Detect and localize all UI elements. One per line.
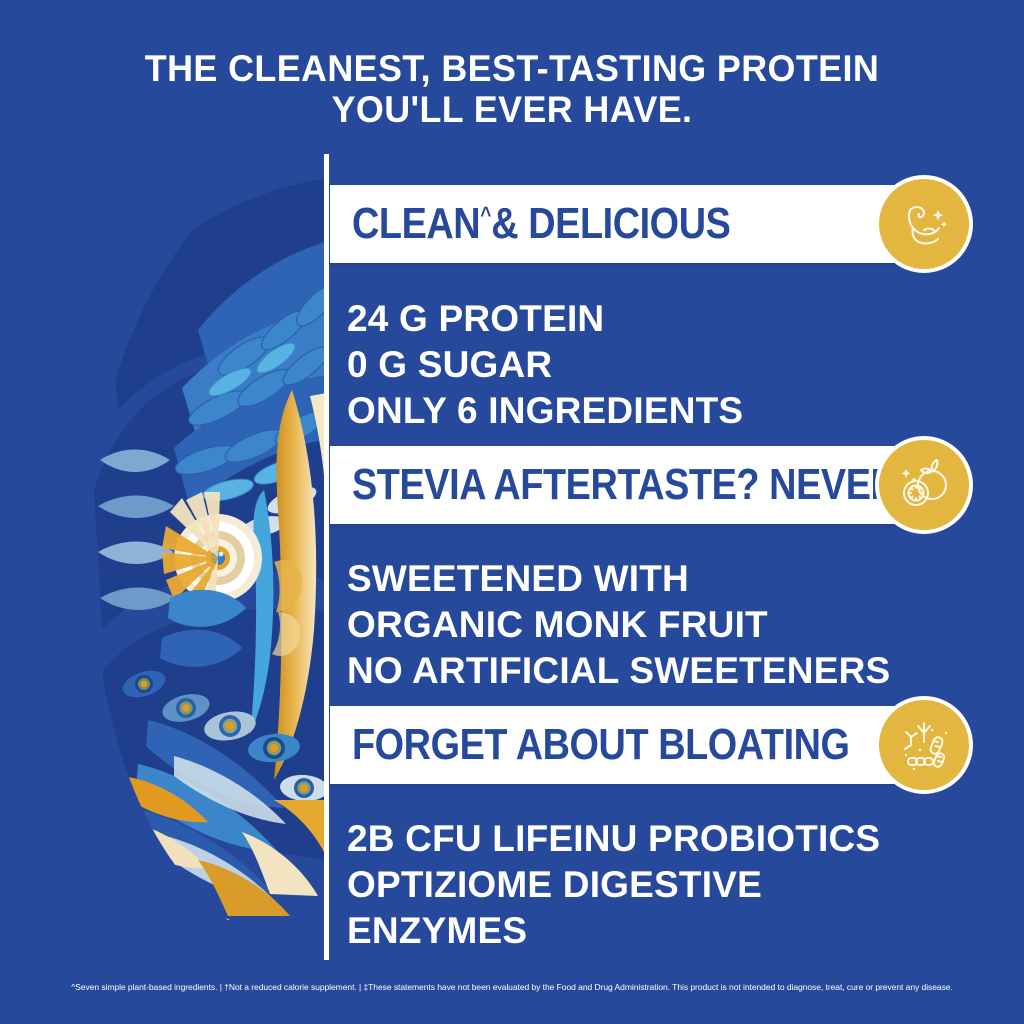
legal-disclaimer: ^Seven simple plant-based ingredients. |… bbox=[0, 982, 1024, 992]
headline-line-2: YOU'LL EVER HAVE. bbox=[15, 89, 1008, 130]
feature-title-3-main: FORGET ABOUT BLOATING bbox=[352, 720, 850, 769]
feature-body-1-line-3: ONLY 6 INGREDIENTS bbox=[347, 388, 743, 434]
feature-body-1: 24 G PROTEIN 0 G SUGAR ONLY 6 INGREDIENT… bbox=[347, 296, 743, 434]
feature-body-2-line-3: NO ARTIFICIAL SWEETENERS bbox=[347, 648, 890, 694]
badge-probiotics bbox=[875, 696, 973, 794]
feature-banner-stevia-aftertaste: STEVIA AFTERTASTE? NEVER! bbox=[330, 446, 945, 524]
feature-body-3: 2B CFU LIFEINU PROBIOTICS OPTIZIOME DIGE… bbox=[347, 816, 880, 954]
feature-body-1-line-2: 0 G SUGAR bbox=[347, 342, 743, 388]
feature-banner-forget-bloating: FORGET ABOUT BLOATING bbox=[330, 706, 945, 784]
feature-title-3: FORGET ABOUT BLOATING bbox=[352, 720, 850, 770]
headline-line-1: THE CLEANEST, BEST-TASTING PROTEIN bbox=[15, 48, 1008, 89]
flexed-bicep-icon bbox=[894, 194, 954, 254]
badge-flexed-bicep bbox=[875, 175, 973, 273]
page-title: THE CLEANEST, BEST-TASTING PROTEIN YOU'L… bbox=[15, 48, 1008, 131]
vertical-divider bbox=[324, 154, 329, 960]
feature-body-3-line-3: ENZYMES bbox=[347, 908, 880, 954]
feature-body-2-line-2: ORGANIC MONK FRUIT bbox=[347, 602, 890, 648]
feature-body-3-line-1: 2B CFU LIFEINU PROBIOTICS bbox=[347, 816, 880, 862]
feature-body-3-line-2: OPTIZIOME DIGESTIVE bbox=[347, 862, 880, 908]
feature-title-1-rest: & DELICIOUS bbox=[491, 199, 730, 248]
feature-title-1-main: CLEAN bbox=[352, 199, 480, 248]
probiotics-bacteria-icon bbox=[894, 715, 954, 775]
monk-fruit-icon bbox=[894, 455, 954, 515]
feature-title-2-main: STEVIA AFTERTASTE? NEVER! bbox=[352, 460, 910, 509]
feature-banner-clean-delicious: CLEAN^& DELICIOUS bbox=[330, 185, 945, 263]
feature-body-2: SWEETENED WITH ORGANIC MONK FRUIT NO ART… bbox=[347, 556, 890, 694]
feature-body-2-line-1: SWEETENED WITH bbox=[347, 556, 890, 602]
feature-title-2: STEVIA AFTERTASTE? NEVER! bbox=[352, 460, 910, 510]
paper-craft-owl-illustration bbox=[78, 160, 348, 920]
feature-title-1-footnote-marker: ^ bbox=[480, 202, 491, 227]
badge-monk-fruit bbox=[875, 436, 973, 534]
feature-body-1-line-1: 24 G PROTEIN bbox=[347, 296, 743, 342]
feature-title-1: CLEAN^& DELICIOUS bbox=[352, 199, 730, 249]
product-feature-poster: THE CLEANEST, BEST-TASTING PROTEIN YOU'L… bbox=[0, 0, 1024, 1024]
